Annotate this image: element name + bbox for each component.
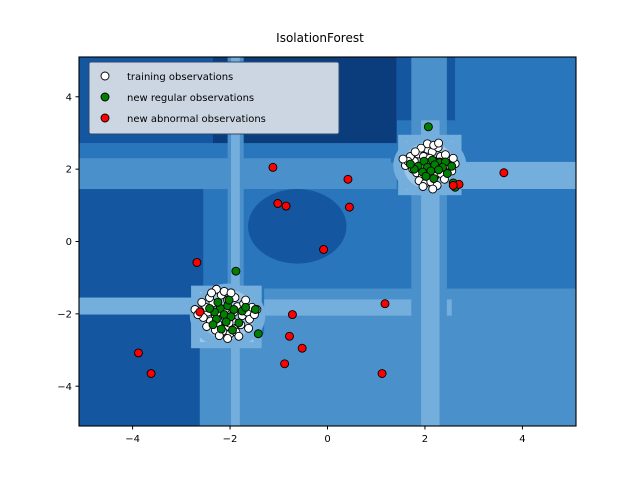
point-new-regular-observation [430,175,438,183]
legend-label: training observations [127,72,233,83]
point-training-observation [245,324,253,332]
point-training-observation [435,139,443,147]
point-new-regular-observation [214,298,222,306]
point-new-abnormal-observation [281,360,289,368]
x-tick-label: 2 [422,434,428,445]
band-light-rightrow [452,162,576,189]
legend-label: new abnormal observations [127,114,266,125]
point-new-abnormal-observation [269,163,277,171]
x-tick-label: 4 [519,434,525,445]
point-new-regular-observation [235,319,243,327]
point-new-abnormal-observation [274,200,282,208]
point-new-abnormal-observation [298,344,306,352]
x-tick-label: 0 [324,434,330,445]
legend[interactable]: training observationsnew regular observa… [89,62,339,134]
point-training-observation [235,332,243,340]
y-tick-label: 2 [66,165,72,176]
band-dark-topright [455,57,576,162]
legend-marker-icon [101,72,109,80]
band-light-leftstrip [79,298,200,315]
point-training-observation [429,185,437,193]
point-training-observation [208,289,216,297]
point-new-regular-observation [225,296,233,304]
point-new-abnormal-observation [381,300,389,308]
point-new-abnormal-observation [282,202,290,210]
x-tick-label: −4 [125,434,140,445]
point-training-observation [399,155,407,163]
point-new-abnormal-observation [344,175,352,183]
point-new-regular-observation [242,303,250,311]
point-training-observation [198,298,206,306]
legend-marker-icon [101,114,109,122]
point-new-regular-observation [422,172,430,180]
point-new-regular-observation [206,304,214,312]
y-tick-label: −4 [57,382,72,393]
point-new-regular-observation [406,160,414,168]
point-new-abnormal-observation [500,169,508,177]
point-training-observation [227,289,235,297]
point-new-abnormal-observation [285,332,293,340]
point-new-regular-observation [251,306,259,314]
point-new-regular-observation [254,330,262,338]
y-tick-label: 4 [66,92,72,103]
page-title: IsolationForest [276,31,364,45]
point-training-observation [419,183,427,191]
point-new-abnormal-observation [134,349,142,357]
band-dark-rightcol [455,298,576,426]
scatter-plot-canvas: IsolationForest −4−2024−4−2024 training … [0,0,640,480]
point-new-regular-observation [443,169,451,177]
band-dark-lowleft [79,315,200,426]
legend-label: new regular observations [127,93,254,104]
point-new-abnormal-observation [147,370,155,378]
contour-blob-center-dark [248,189,346,264]
point-new-abnormal-observation [345,203,353,211]
matplotlib-figure: IsolationForest −4−2024−4−2024 training … [0,0,640,480]
point-new-regular-observation [424,123,432,131]
point-new-regular-observation [222,318,230,326]
point-new-regular-observation [209,321,217,329]
point-new-abnormal-observation [320,245,328,253]
y-tick-label: 0 [66,237,72,248]
point-new-abnormal-observation [378,370,386,378]
point-training-observation [449,154,457,162]
point-new-abnormal-observation [288,311,296,319]
point-new-regular-observation [232,267,240,275]
point-training-observation [411,148,419,156]
point-new-abnormal-observation [196,308,204,316]
point-new-abnormal-observation [449,181,457,189]
x-tick-label: −2 [223,434,238,445]
point-new-regular-observation [217,325,225,333]
point-training-observation [224,334,232,342]
point-new-regular-observation [435,166,443,174]
y-tick-label: −2 [57,309,72,320]
legend-marker-icon [101,93,109,101]
point-new-abnormal-observation [193,258,201,266]
point-new-regular-observation [448,162,456,170]
point-new-regular-observation [228,326,236,334]
